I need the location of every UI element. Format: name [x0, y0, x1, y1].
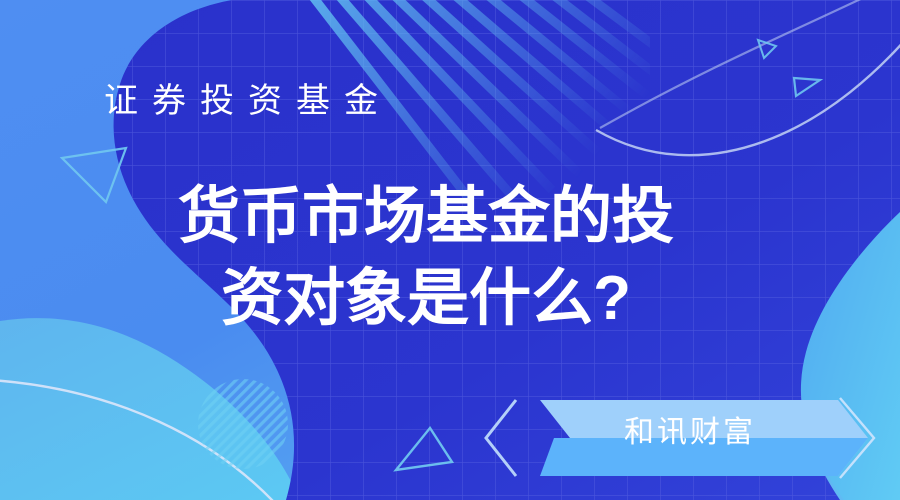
background-artwork [0, 0, 900, 500]
poster-canvas: 证券投资基金 货币市场基金的投 资对象是什么? 和讯财富 [0, 0, 900, 500]
brand-ribbon-bottom-band [540, 438, 868, 476]
striped-circle [198, 379, 288, 469]
